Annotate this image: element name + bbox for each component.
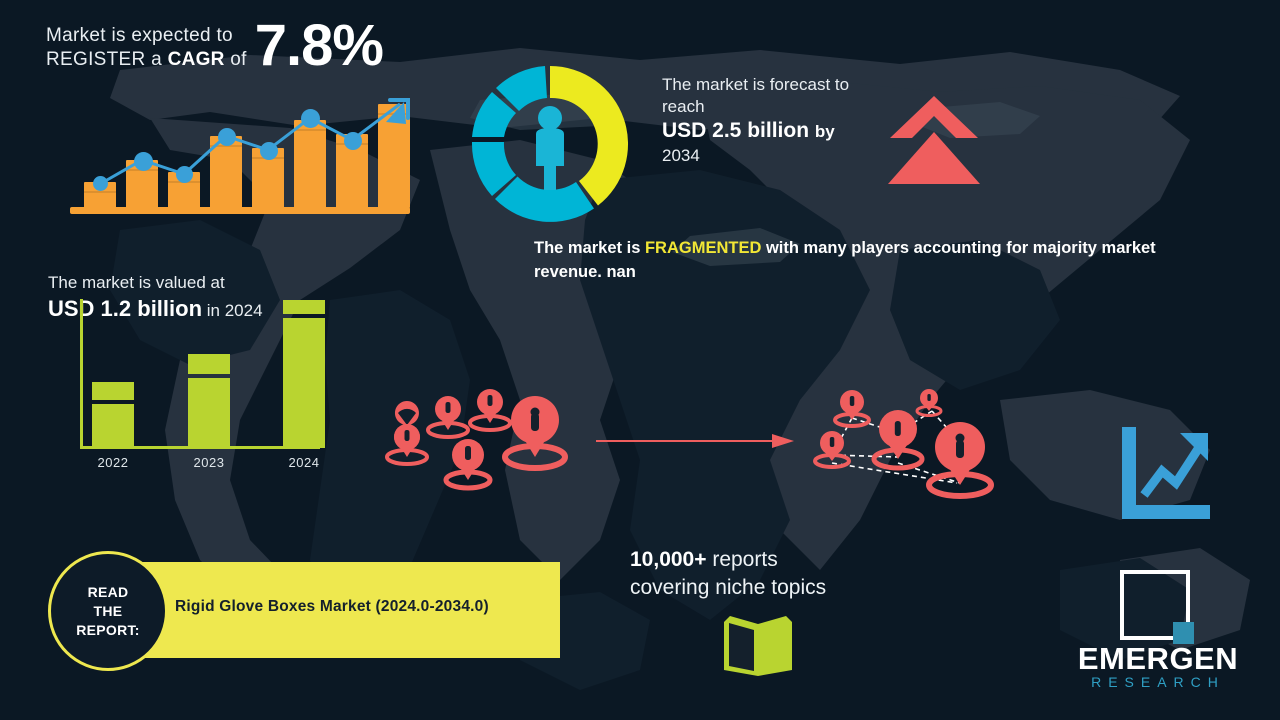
market-value-chart: 2022 2023 2024 <box>80 295 330 470</box>
donut-svg <box>466 60 634 228</box>
forecast-block: The market is forecast to reach USD 2.5 … <box>662 74 902 167</box>
cagr-trend-chart <box>70 88 410 218</box>
bar-label-2024: 2024 <box>275 455 333 470</box>
location-pin <box>929 422 991 496</box>
cagr-keyword: CAGR <box>168 49 225 70</box>
logo-subtitle: RESEARCH <box>1058 674 1258 690</box>
person-icon <box>536 106 564 190</box>
growth-chart-arrow-icon <box>1118 425 1214 523</box>
infographic-canvas: Market is expected to REGISTER a CAGR of… <box>0 0 1280 720</box>
data-point <box>93 176 108 191</box>
cagr-label-line2: REGISTER a CAGR of <box>46 48 247 72</box>
frag-pre: The market is <box>534 239 645 257</box>
forecast-value: USD 2.5 billion by <box>662 118 902 145</box>
forecast-line1: The market is forecast to <box>662 74 902 96</box>
chart-y-axis <box>80 299 83 449</box>
read-the-report-label: READ THE REPORT: <box>76 583 140 640</box>
fragmentation-statement: The market is FRAGMENTED with many playe… <box>534 236 1214 284</box>
location-pin <box>835 390 869 426</box>
data-point <box>134 152 153 171</box>
bar-2024 <box>283 318 325 448</box>
cagr-label: Market is expected to REGISTER a CAGR of <box>46 18 247 72</box>
forecast-year: 2034 <box>662 145 902 167</box>
location-pin <box>428 396 468 437</box>
report-title: Rigid Glove Boxes Market (2024.0-2034.0) <box>175 598 555 616</box>
location-pin <box>874 410 922 468</box>
location-pin <box>387 401 427 464</box>
right-arrow-icon <box>596 432 796 450</box>
bar-label-2022: 2022 <box>84 455 142 470</box>
forecast-by: by <box>815 122 835 141</box>
location-pin <box>815 431 849 467</box>
location-pin <box>470 389 510 430</box>
location-pin <box>917 389 941 416</box>
connected-location-pin-network-icon <box>805 385 1015 503</box>
valuation-label: The market is valued at <box>48 272 378 294</box>
open-book-icon <box>720 612 796 676</box>
data-point <box>344 132 362 150</box>
location-pin <box>505 396 565 468</box>
bar-2023 <box>188 378 230 448</box>
read-the-report-button[interactable]: READ THE REPORT: <box>48 551 168 671</box>
trend-line <box>70 88 410 218</box>
data-point <box>301 109 320 128</box>
emergen-research-logo: EMERGEN RESEARCH <box>1058 570 1258 695</box>
data-point <box>218 128 236 146</box>
cagr-label-line1: Market is expected to <box>46 24 247 48</box>
reports-count: 10,000+ <box>630 548 707 571</box>
frag-highlight: FRAGMENTED <box>645 239 761 257</box>
reports-line1: 10,000+ reports <box>630 546 930 574</box>
bar-cap-2024 <box>283 300 325 314</box>
forecast-line2: reach <box>662 96 902 118</box>
double-chevron-up-icon <box>886 96 982 184</box>
bar-cap-2023 <box>188 354 230 374</box>
bar-cap-2022 <box>92 382 134 400</box>
location-pin-cluster-icon <box>380 385 580 495</box>
reports-line2: covering niche topics <box>630 574 930 602</box>
bar-2022 <box>92 404 134 448</box>
bar-label-2023: 2023 <box>180 455 238 470</box>
market-share-donut <box>466 60 634 228</box>
reports-block: 10,000+ reports covering niche topics <box>630 546 930 602</box>
cagr-block: Market is expected to REGISTER a CAGR of… <box>46 18 466 74</box>
cagr-value: 7.8% <box>255 18 383 74</box>
location-pin <box>446 439 490 488</box>
logo-name: EMERGEN <box>1058 642 1258 676</box>
data-point <box>260 142 278 160</box>
data-point <box>176 166 193 183</box>
